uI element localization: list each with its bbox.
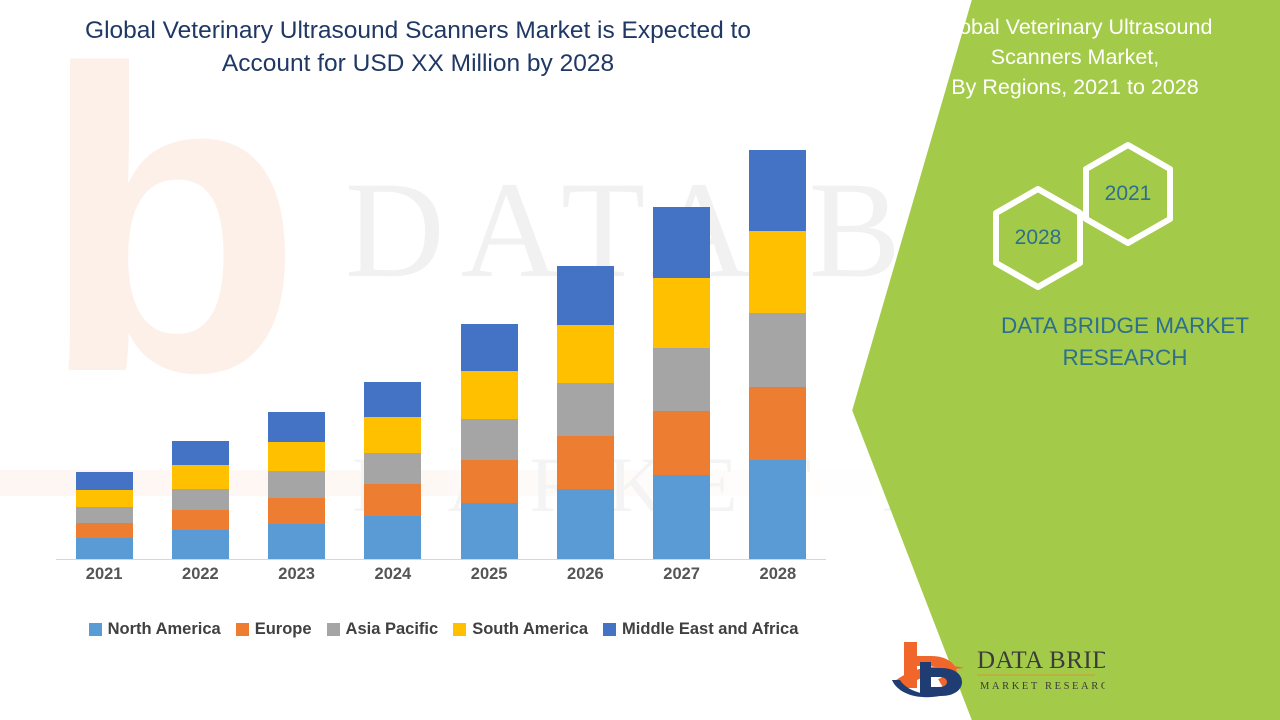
bar-column-2028[interactable] bbox=[730, 120, 826, 559]
bar-segment[interactable] bbox=[364, 484, 421, 516]
bar-column-2024[interactable] bbox=[345, 120, 441, 559]
bar-segment[interactable] bbox=[461, 371, 518, 418]
logo-name-bottom: MARKET RESEARCH bbox=[980, 681, 1105, 692]
bar-segment[interactable] bbox=[364, 516, 421, 559]
hexagon-badge-2028-label: 2028 bbox=[1015, 226, 1062, 250]
stacked-bar[interactable] bbox=[653, 207, 710, 559]
panel-brand-line-2: RESEARCH bbox=[930, 342, 1280, 374]
bar-segment[interactable] bbox=[653, 475, 710, 560]
x-axis-label-2022: 2022 bbox=[152, 565, 248, 593]
x-axis-label-2021: 2021 bbox=[56, 565, 152, 593]
legend-swatch-icon bbox=[89, 623, 102, 636]
legend-item-north-america[interactable]: North America bbox=[89, 620, 221, 639]
legend-label: Middle East and Africa bbox=[622, 620, 798, 639]
bar-segment[interactable] bbox=[557, 436, 614, 489]
logo-mark-icon: DATA BRIDGE MARKET RESEARCH bbox=[890, 638, 1105, 700]
bar-column-2021[interactable] bbox=[56, 120, 152, 559]
chart-legend: North AmericaEuropeAsia PacificSouth Ame… bbox=[56, 614, 831, 644]
bar-segment[interactable] bbox=[76, 523, 133, 538]
legend-item-asia-pacific[interactable]: Asia Pacific bbox=[327, 620, 439, 639]
panel-brand-text: DATA BRIDGE MARKET RESEARCH bbox=[930, 310, 1280, 374]
bar-segment[interactable] bbox=[268, 498, 325, 524]
bar-segment[interactable] bbox=[76, 472, 133, 490]
bar-segment[interactable] bbox=[749, 387, 806, 461]
x-axis-label-2027: 2027 bbox=[634, 565, 730, 593]
bar-segment[interactable] bbox=[557, 325, 614, 383]
legend-label: Europe bbox=[255, 620, 312, 639]
bar-segment[interactable] bbox=[749, 313, 806, 387]
bar-segment[interactable] bbox=[461, 460, 518, 503]
bar-segment[interactable] bbox=[653, 278, 710, 348]
bar-segment[interactable] bbox=[364, 382, 421, 417]
bar-segment[interactable] bbox=[461, 419, 518, 461]
legend-swatch-icon bbox=[327, 623, 340, 636]
bar-column-2025[interactable] bbox=[441, 120, 537, 559]
bar-segment[interactable] bbox=[76, 538, 133, 559]
page-title: Global Veterinary Ultrasound Scanners Ma… bbox=[48, 14, 788, 80]
stacked-bar[interactable] bbox=[461, 324, 518, 559]
data-bridge-logo: DATA BRIDGE MARKET RESEARCH bbox=[890, 638, 1105, 700]
bar-segment[interactable] bbox=[364, 417, 421, 452]
logo-name-top: DATA BRIDGE bbox=[977, 647, 1105, 674]
legend-label: South America bbox=[472, 620, 588, 639]
bar-segment[interactable] bbox=[172, 510, 229, 531]
bar-segment[interactable] bbox=[268, 412, 325, 442]
bar-segment[interactable] bbox=[268, 471, 325, 497]
stacked-bar[interactable] bbox=[557, 266, 614, 559]
bar-segment[interactable] bbox=[172, 530, 229, 559]
stacked-bar[interactable] bbox=[268, 412, 325, 559]
bar-column-2023[interactable] bbox=[249, 120, 345, 559]
bar-segment[interactable] bbox=[557, 489, 614, 559]
legend-label: Asia Pacific bbox=[346, 620, 439, 639]
bar-segment[interactable] bbox=[172, 489, 229, 510]
stacked-bar[interactable] bbox=[364, 382, 421, 559]
plot-area bbox=[56, 120, 826, 560]
x-axis-label-2026: 2026 bbox=[537, 565, 633, 593]
legend-swatch-icon bbox=[236, 623, 249, 636]
panel-brand-line-1: DATA BRIDGE MARKET bbox=[930, 310, 1280, 342]
panel-title-line-3: By Regions, 2021 to 2028 bbox=[875, 72, 1275, 102]
bar-segment[interactable] bbox=[749, 150, 806, 231]
bar-segment[interactable] bbox=[557, 266, 614, 325]
bar-column-2026[interactable] bbox=[537, 120, 633, 559]
hexagon-badge-2028: 2028 bbox=[990, 184, 1086, 292]
hexagon-badges: 2021 2028 bbox=[975, 140, 1205, 280]
legend-item-south-america[interactable]: South America bbox=[453, 620, 588, 639]
x-axis-line bbox=[56, 559, 826, 560]
bar-segment[interactable] bbox=[364, 453, 421, 485]
bar-segment[interactable] bbox=[268, 524, 325, 559]
chart-region: Global Veterinary Ultrasound Scanners Ma… bbox=[0, 0, 860, 720]
bar-segment[interactable] bbox=[172, 441, 229, 465]
bar-segment[interactable] bbox=[76, 490, 133, 508]
legend-item-middle-east-and-africa[interactable]: Middle East and Africa bbox=[603, 620, 798, 639]
x-axis-labels: 20212022202320242025202620272028 bbox=[56, 565, 826, 593]
stacked-bar[interactable] bbox=[76, 472, 133, 559]
bar-column-2027[interactable] bbox=[634, 120, 730, 559]
bar-column-2022[interactable] bbox=[152, 120, 248, 559]
panel-title-line-2: Scanners Market, bbox=[875, 42, 1275, 72]
x-axis-label-2025: 2025 bbox=[441, 565, 537, 593]
bar-group bbox=[56, 120, 826, 559]
panel-title-line-1: Global Veterinary Ultrasound bbox=[875, 12, 1275, 42]
hexagon-badge-2021: 2021 bbox=[1080, 140, 1176, 248]
bar-segment[interactable] bbox=[653, 411, 710, 475]
x-axis-label-2024: 2024 bbox=[345, 565, 441, 593]
bar-segment[interactable] bbox=[461, 503, 518, 559]
panel-title: Global Veterinary Ultrasound Scanners Ma… bbox=[875, 12, 1275, 102]
legend-item-europe[interactable]: Europe bbox=[236, 620, 312, 639]
legend-swatch-icon bbox=[453, 623, 466, 636]
x-axis-label-2028: 2028 bbox=[730, 565, 826, 593]
bar-segment[interactable] bbox=[268, 442, 325, 472]
bar-segment[interactable] bbox=[653, 348, 710, 411]
x-axis-label-2023: 2023 bbox=[249, 565, 345, 593]
legend-label: North America bbox=[108, 620, 221, 639]
bar-segment[interactable] bbox=[76, 507, 133, 522]
bar-segment[interactable] bbox=[749, 460, 806, 559]
bar-segment[interactable] bbox=[557, 383, 614, 436]
hexagon-badge-2021-label: 2021 bbox=[1105, 182, 1152, 206]
legend-swatch-icon bbox=[603, 623, 616, 636]
infographic-canvas: b DATA BRIDGE MARKET RESEARCH Global Vet… bbox=[0, 0, 1280, 720]
bar-segment[interactable] bbox=[749, 231, 806, 313]
stacked-bar[interactable] bbox=[172, 441, 229, 560]
bar-segment[interactable] bbox=[653, 207, 710, 278]
bar-segment[interactable] bbox=[461, 324, 518, 371]
stacked-bar[interactable] bbox=[749, 150, 806, 559]
bar-segment[interactable] bbox=[172, 465, 229, 489]
